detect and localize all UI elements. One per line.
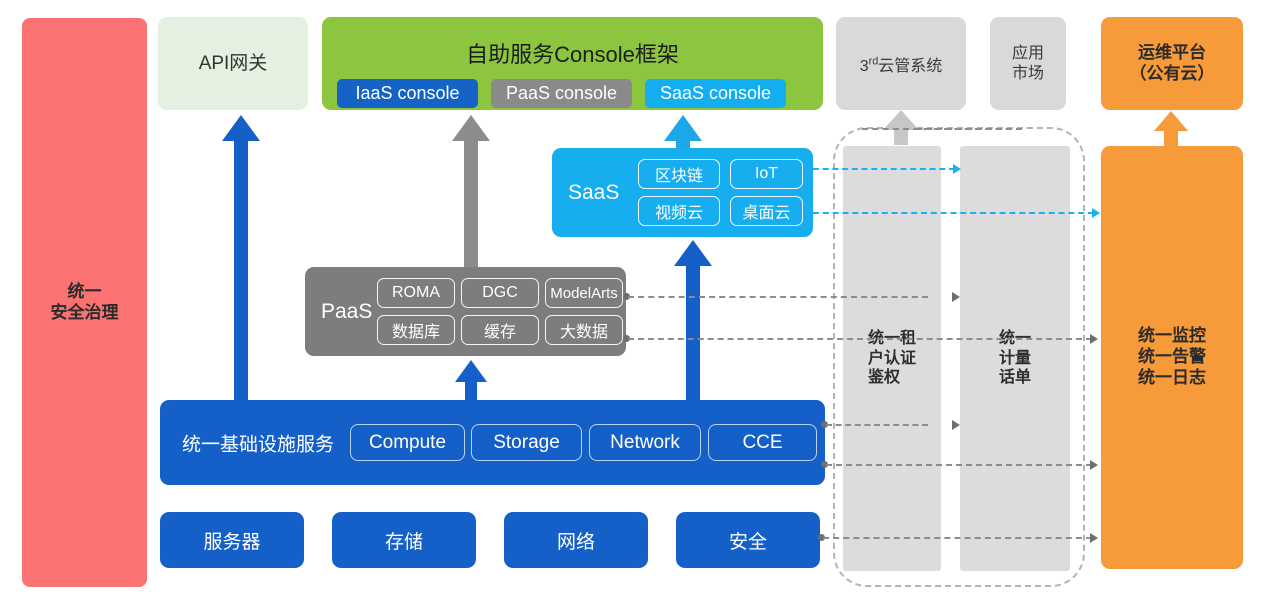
hardware-item-storage[interactable]: 存储 <box>332 512 476 568</box>
paas-item-modelarts-label: ModelArts <box>550 285 618 302</box>
infra-item-storage[interactable]: Storage <box>471 424 582 461</box>
app-market-label: 应用 市场 <box>1012 44 1044 83</box>
ops-platform-label: 运维平台 （公有云） <box>1130 43 1215 84</box>
paas-layer[interactable]: PaaS ROMA DGC ModelArts 数据库 缓存 大数据 <box>305 267 626 356</box>
arrowhead-saas-to-ops <box>1092 208 1100 218</box>
saas-item-desktop-cloud[interactable]: 桌面云 <box>730 196 803 226</box>
unified-infrastructure-label: 统一基础设施服务 <box>182 429 334 456</box>
third-party-cloud-box[interactable]: 3rd云管系统 <box>836 17 966 110</box>
arrowhead-paas-to-ops <box>1090 334 1098 344</box>
unified-infrastructure-bar[interactable]: 统一基础设施服务 Compute Storage Network CCE <box>160 400 825 485</box>
hardware-item-network[interactable]: 网络 <box>504 512 648 568</box>
paas-layer-name: PaaS <box>321 300 372 324</box>
paas-item-dgc-label: DGC <box>482 284 518 302</box>
ops-monitoring-panel[interactable]: 统一监控 统一告警 统一日志 <box>1101 146 1243 569</box>
ops-monitoring-label: 统一监控 统一告警 统一日志 <box>1138 326 1206 388</box>
arrow-saas-to-console <box>664 115 702 148</box>
chip-iaas-console[interactable]: IaaS console <box>337 79 478 108</box>
arrow-infra-to-saas <box>674 240 712 400</box>
hardware-item-server-label: 服务器 <box>203 527 260 554</box>
infra-item-cce-label: CCE <box>742 432 782 454</box>
saas-layer-name: SaaS <box>568 181 619 205</box>
infra-item-network[interactable]: Network <box>589 424 701 461</box>
chip-paas-console[interactable]: PaaS console <box>491 79 632 108</box>
arrowhead-hardware-to-ops <box>1090 533 1098 543</box>
ops-platform-box[interactable]: 运维平台 （公有云） <box>1101 17 1243 110</box>
saas-layer[interactable]: SaaS 区块链 IoT 视频云 桌面云 <box>552 148 813 237</box>
paas-item-database-label: 数据库 <box>392 318 440 342</box>
arrowhead-saas-to-metering <box>953 164 961 174</box>
infra-item-compute-label: Compute <box>369 432 446 454</box>
paas-item-modelarts[interactable]: ModelArts <box>545 278 623 308</box>
arrow-to-ops-platform <box>1153 111 1189 147</box>
infra-item-storage-label: Storage <box>493 432 560 454</box>
paas-item-cache[interactable]: 缓存 <box>461 315 539 345</box>
arrowhead-paas-to-metering <box>952 292 960 302</box>
infra-item-compute[interactable]: Compute <box>350 424 465 461</box>
arrowhead-infra-to-ops <box>1090 460 1098 470</box>
dashed-saas-to-tenant-auth <box>813 168 955 170</box>
hardware-item-storage-label: 存储 <box>385 527 423 554</box>
dashed-infra-to-tenant-auth <box>826 424 928 426</box>
dashed-third-party-feed-right <box>916 128 1022 130</box>
hardware-item-network-label: 网络 <box>557 527 595 554</box>
saas-item-video-cloud[interactable]: 视频云 <box>638 196 720 226</box>
saas-item-blockchain-label: 区块链 <box>655 162 703 186</box>
chip-saas-console-label: SaaS console <box>660 83 771 104</box>
arrow-infra-to-api-gateway <box>222 115 260 400</box>
unified-security-panel[interactable]: 统一 安全治理 <box>22 18 147 587</box>
saas-item-desktop-cloud-label: 桌面云 <box>742 199 790 223</box>
saas-item-iot-label: IoT <box>755 165 778 183</box>
dashed-infra-to-ops <box>826 464 1092 466</box>
arrow-infra-to-paas <box>455 360 487 400</box>
arrow-paas-to-console <box>452 115 490 267</box>
api-gateway-box[interactable]: API网关 <box>158 17 308 110</box>
paas-item-cache-label: 缓存 <box>484 318 516 342</box>
api-gateway-label: API网关 <box>199 52 268 75</box>
saas-item-video-cloud-label: 视频云 <box>655 199 703 223</box>
infra-item-cce[interactable]: CCE <box>708 424 817 461</box>
self-service-console-panel[interactable]: 自助服务Console框架 IaaS console PaaS console … <box>322 17 823 110</box>
unified-security-label: 统一 安全治理 <box>51 282 119 323</box>
column-tenant-auth[interactable]: 统一租 户认证 鉴权 <box>843 146 941 571</box>
paas-item-roma[interactable]: ROMA <box>377 278 455 308</box>
saas-item-iot[interactable]: IoT <box>730 159 803 189</box>
chip-iaas-console-label: IaaS console <box>355 83 459 104</box>
dashed-paas-to-ops <box>628 338 1092 340</box>
paas-item-database[interactable]: 数据库 <box>377 315 455 345</box>
dashed-paas-to-tenant-auth <box>628 296 928 298</box>
saas-item-blockchain[interactable]: 区块链 <box>638 159 720 189</box>
arrowhead-infra-to-metering <box>952 420 960 430</box>
hardware-item-security-label: 安全 <box>729 527 767 554</box>
dashed-hardware-to-ops <box>823 537 1092 539</box>
paas-item-bigdata-label: 大数据 <box>560 318 608 342</box>
architecture-diagram: 统一 安全治理 API网关 自助服务Console框架 IaaS console… <box>0 0 1265 605</box>
hardware-item-server[interactable]: 服务器 <box>160 512 304 568</box>
paas-item-roma-label: ROMA <box>392 284 440 302</box>
hardware-item-security[interactable]: 安全 <box>676 512 820 568</box>
dashed-saas-to-ops <box>813 212 1094 214</box>
console-title: 自助服务Console框架 <box>322 37 823 69</box>
chip-paas-console-label: PaaS console <box>506 83 617 104</box>
paas-item-bigdata[interactable]: 大数据 <box>545 315 623 345</box>
column-metering[interactable]: 统一 计量 话单 <box>960 146 1070 571</box>
third-party-cloud-label: 3rd云管系统 <box>860 52 943 76</box>
chip-saas-console[interactable]: SaaS console <box>645 79 786 108</box>
paas-item-dgc[interactable]: DGC <box>461 278 539 308</box>
infra-item-network-label: Network <box>610 432 680 454</box>
app-market-box[interactable]: 应用 市场 <box>990 17 1066 110</box>
